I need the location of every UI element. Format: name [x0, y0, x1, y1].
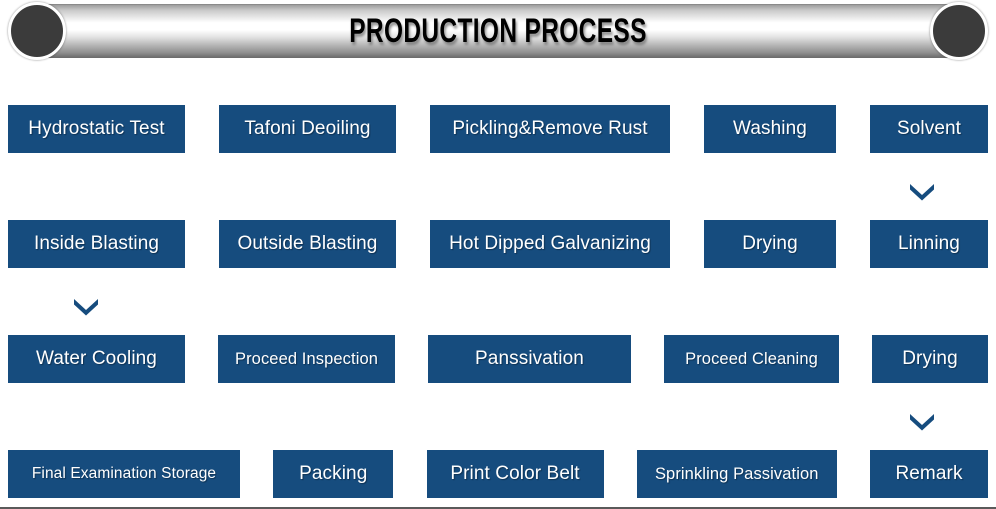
process-step-box[interactable]: Proceed Cleaning [664, 335, 839, 383]
chevron-right-icon [191, 116, 213, 142]
chevron-down-icon-row1-to-row2 [905, 178, 939, 204]
process-step-box[interactable]: Final Examination Storage [8, 450, 240, 498]
process-step-box[interactable]: Panssivation [428, 335, 631, 383]
page-title: PRODUCTION PROCESS [139, 2, 856, 60]
process-step-box[interactable]: Linning [870, 220, 988, 268]
process-step-box[interactable]: Sprinkling Passivation [637, 450, 837, 498]
process-step-box[interactable]: Print Color Belt [427, 450, 604, 498]
process-step-box[interactable]: Tafoni Deoiling [219, 105, 396, 153]
chevron-left-icon [399, 461, 421, 487]
chevron-right-icon [191, 346, 213, 372]
chevron-down-icon-row2-to-row3 [69, 293, 103, 319]
chevron-left-icon [191, 231, 213, 257]
chevron-right-icon [842, 116, 864, 142]
process-row-2-steps: Inside Blasting Outside Blasting Hot Dip… [8, 220, 988, 268]
process-step-box[interactable]: Remark [870, 450, 988, 498]
cylinder-end-cap-right-icon [930, 2, 988, 60]
chevron-left-icon [842, 231, 864, 257]
process-row-4: Final Examination Storage Packing Print … [0, 441, 996, 509]
process-step-box[interactable]: Drying [872, 335, 988, 383]
process-row-3: Water Cooling Proceed Inspection Panssiv… [0, 326, 996, 441]
chevron-left-icon [402, 231, 424, 257]
chevron-down-icon-row3-to-row4 [905, 408, 939, 434]
process-step-box[interactable]: Proceed Inspection [218, 335, 395, 383]
chevron-right-icon [637, 346, 659, 372]
process-step-box[interactable]: Inside Blasting [8, 220, 185, 268]
process-row-4-steps: Final Examination Storage Packing Print … [8, 450, 988, 498]
process-row-1: Hydrostatic Test Tafoni Deoiling Picklin… [0, 96, 996, 211]
chevron-right-icon [402, 116, 424, 142]
process-step-box[interactable]: Hydrostatic Test [8, 105, 185, 153]
chevron-left-icon [609, 461, 631, 487]
process-step-box[interactable]: Pickling&Remove Rust [430, 105, 670, 153]
header-banner: PRODUCTION PROCESS [0, 2, 996, 60]
chevron-right-icon [401, 346, 423, 372]
process-step-box[interactable]: Outside Blasting [219, 220, 396, 268]
process-step-box[interactable]: Water Cooling [8, 335, 185, 383]
process-step-box[interactable]: Washing [704, 105, 836, 153]
chevron-right-icon [845, 346, 867, 372]
chevron-left-icon [246, 461, 268, 487]
chevron-right-icon [676, 116, 698, 142]
chevron-left-icon [676, 231, 698, 257]
process-row-2: Inside Blasting Outside Blasting Hot Dip… [0, 211, 996, 326]
process-step-box[interactable]: Solvent [870, 105, 988, 153]
process-row-1-steps: Hydrostatic Test Tafoni Deoiling Picklin… [8, 105, 988, 153]
process-step-box[interactable]: Hot Dipped Galvanizing [430, 220, 670, 268]
process-row-3-steps: Water Cooling Proceed Inspection Panssiv… [8, 335, 988, 383]
process-flow: Hydrostatic Test Tafoni Deoiling Picklin… [0, 96, 996, 509]
production-process-page: PRODUCTION PROCESS Hydrostatic Test Tafo… [0, 0, 996, 509]
cylinder-end-cap-left-icon [8, 2, 66, 60]
process-step-box[interactable]: Drying [704, 220, 836, 268]
process-step-box[interactable]: Packing [273, 450, 393, 498]
chevron-left-icon [842, 461, 864, 487]
